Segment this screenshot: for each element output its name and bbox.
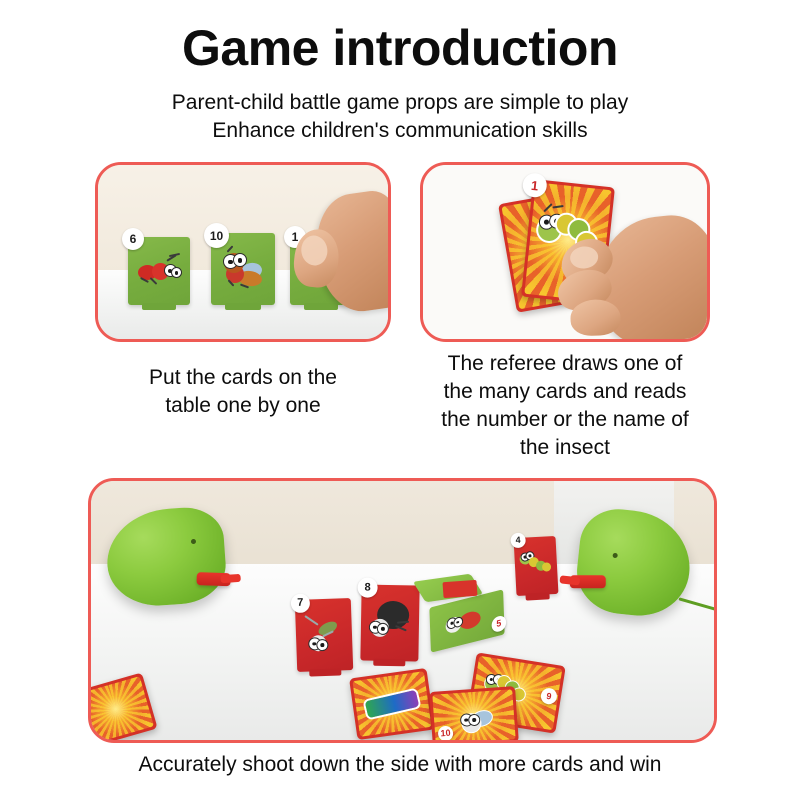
fly-icon — [458, 703, 504, 740]
scene-shoot-down: 7 8 — [91, 481, 714, 740]
page-title: Game introduction — [0, 22, 800, 75]
bottom-panel-row: 7 8 — [0, 478, 800, 743]
page-subtitle: Parent-child battle game props are simpl… — [0, 89, 800, 147]
card-number-badge: 10 — [204, 223, 229, 248]
standing-card-4: 4 — [514, 536, 559, 596]
card-number-badge: 6 — [122, 228, 144, 250]
page-header: Game introduction Parent-child battle ga… — [0, 0, 800, 146]
caption-shoot-down: Accurately shoot down the side with more… — [0, 753, 800, 777]
beetle-icon — [367, 597, 416, 650]
caption-referee-draws: The referee draws one of the many cards … — [408, 350, 722, 461]
caption-line: Accurately shoot down the side with more… — [0, 753, 800, 777]
loose-card-back — [349, 668, 435, 740]
fly-icon — [220, 249, 268, 293]
scene-referee-draws: 1 — [423, 165, 707, 339]
caption-line: the insect — [408, 434, 722, 462]
caption-line: the number or the name of — [408, 406, 722, 434]
photo-panel-shoot-down: 7 8 — [88, 478, 717, 743]
top-panels-row: 6 10 — [0, 162, 800, 342]
caterpillar-icon — [518, 549, 554, 581]
loose-card-10: 10 — [429, 687, 519, 744]
caption-place-cards: Put the cards on the table one by one — [95, 364, 391, 419]
caption-line: Put the cards on the — [95, 364, 391, 392]
knocked-card-flap — [442, 580, 477, 598]
card-number-badge: 5 — [491, 615, 506, 634]
subtitle-line-1: Parent-child battle game props are simpl… — [0, 89, 800, 118]
standing-card-6: 6 — [128, 237, 190, 305]
scene-place-cards: 6 10 — [98, 165, 388, 339]
photo-panel-place-cards: 6 10 — [95, 162, 391, 342]
standing-card-10: 10 — [211, 233, 275, 305]
mosquito-icon — [301, 615, 347, 665]
ant-icon — [136, 255, 182, 291]
photo-panel-referee-draws: 1 — [420, 162, 710, 342]
caption-line: The referee draws one of — [408, 350, 722, 378]
subtitle-line-2: Enhance children's communication skills — [0, 117, 800, 146]
bug-icon — [443, 605, 483, 641]
card-number-badge: 4 — [510, 533, 526, 549]
card-number-badge: 8 — [357, 578, 377, 598]
standing-card-8: 8 — [360, 585, 419, 662]
card-number-badge: 7 — [291, 594, 311, 614]
caption-line: table one by one — [95, 392, 391, 420]
caption-line: the many cards and reads — [408, 378, 722, 406]
standing-card-7: 7 — [295, 598, 353, 672]
top-captions-row: Put the cards on the table one by one Th… — [0, 350, 800, 468]
